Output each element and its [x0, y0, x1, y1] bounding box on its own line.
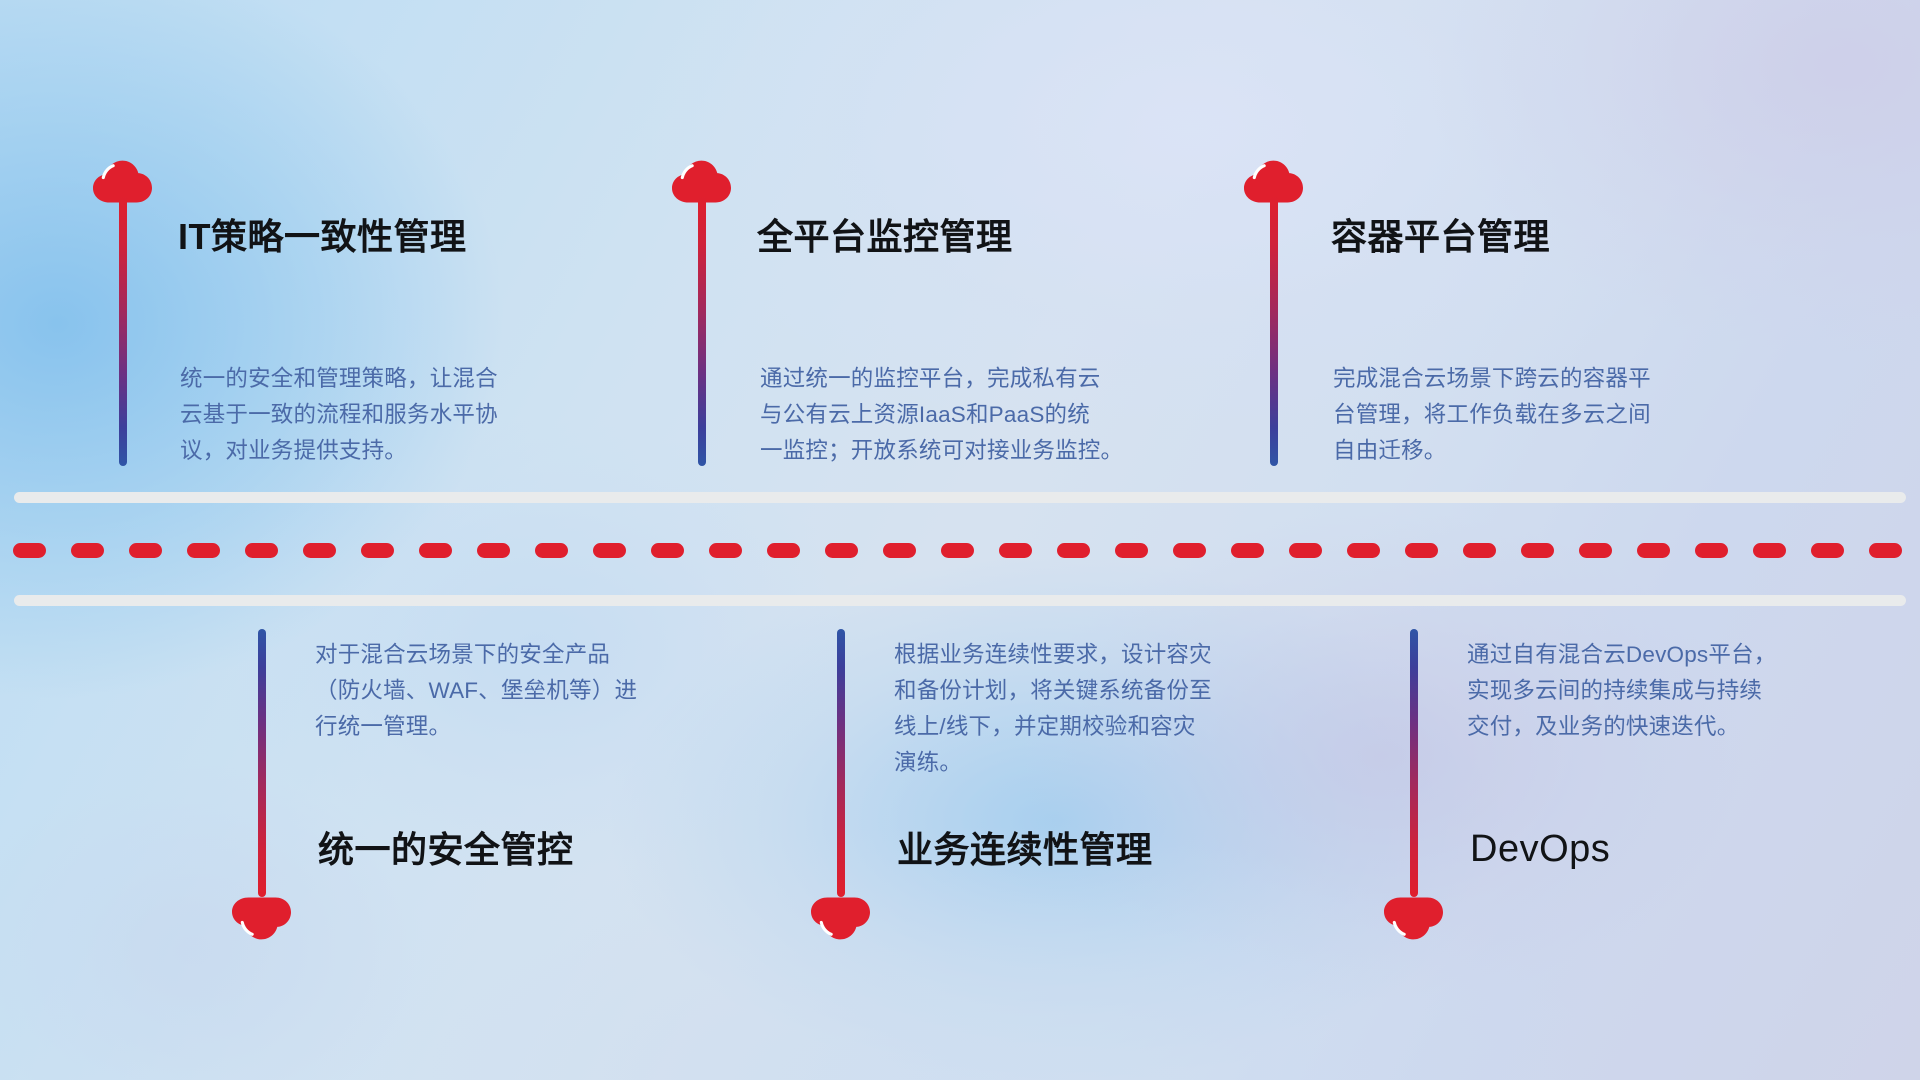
- cloud-icon: [810, 897, 872, 943]
- divider-dash: [361, 543, 394, 558]
- cloud-icon: [231, 897, 293, 943]
- divider-dash: [477, 543, 510, 558]
- divider-dash: [1637, 543, 1670, 558]
- divider-dash: [535, 543, 568, 558]
- connector-stem: [1410, 629, 1418, 897]
- card-title: 全平台监控管理: [757, 219, 1013, 255]
- cloud-icon: [1383, 897, 1445, 943]
- divider-dash: [71, 543, 104, 558]
- divider-dash: [651, 543, 684, 558]
- divider-dash: [1695, 543, 1728, 558]
- divider-dash: [999, 543, 1032, 558]
- description-line: 通过统一的监控平台，完成私有云: [760, 361, 1180, 397]
- card-title: IT策略一致性管理: [178, 219, 467, 255]
- divider-rail-bottom: [14, 595, 1906, 606]
- divider-dash: [245, 543, 278, 558]
- description-line: （防火墙、WAF、堡垒机等）进: [315, 673, 715, 709]
- card-title: 业务连续性管理: [897, 832, 1153, 868]
- card-description: 通过自有混合云DevOps平台， 实现多云间的持续集成与持续 交付，及业务的快速…: [1467, 637, 1877, 745]
- divider-dash: [941, 543, 974, 558]
- description-line: 实现多云间的持续集成与持续: [1467, 673, 1877, 709]
- description-line: 统一的安全和管理策略，让混合: [180, 361, 580, 397]
- card-description: 对于混合云场景下的安全产品 （防火墙、WAF、堡垒机等）进 行统一管理。: [315, 637, 715, 745]
- divider-dash: [419, 543, 452, 558]
- divider-dash: [593, 543, 626, 558]
- description-line: 演练。: [894, 745, 1314, 781]
- divider-dash: [825, 543, 858, 558]
- description-line: 与公有云上资源IaaS和PaaS的统: [760, 397, 1180, 433]
- divider-dash: [709, 543, 742, 558]
- card-description: 通过统一的监控平台，完成私有云 与公有云上资源IaaS和PaaS的统 一监控；开…: [760, 361, 1180, 469]
- divider-dash: [1869, 543, 1902, 558]
- divider-dash: [1173, 543, 1206, 558]
- description-line: 台管理，将工作负载在多云之间: [1333, 397, 1733, 433]
- divider-dash: [767, 543, 800, 558]
- description-line: 行统一管理。: [315, 709, 715, 745]
- card-title: DevOps: [1470, 830, 1610, 868]
- connector-stem: [119, 196, 127, 466]
- description-line: 和备份计划，将关键系统备份至: [894, 673, 1314, 709]
- divider-dash: [1405, 543, 1438, 558]
- card-title: 统一的安全管控: [318, 832, 574, 868]
- divider-dash: [1521, 543, 1554, 558]
- connector-stem: [698, 196, 706, 466]
- divider-dash: [1289, 543, 1322, 558]
- divider-dash: [1579, 543, 1612, 558]
- connector-stem: [1270, 196, 1278, 466]
- description-line: 交付，及业务的快速迭代。: [1467, 709, 1877, 745]
- divider-rail-top: [14, 492, 1906, 503]
- description-line: 根据业务连续性要求，设计容灾: [894, 637, 1314, 673]
- divider-dash: [1811, 543, 1844, 558]
- description-line: 对于混合云场景下的安全产品: [315, 637, 715, 673]
- divider-dash: [1057, 543, 1090, 558]
- divider-dash: [1347, 543, 1380, 558]
- divider-dash: [13, 543, 46, 558]
- description-line: 议，对业务提供支持。: [180, 433, 580, 469]
- description-line: 云基于一致的流程和服务水平协: [180, 397, 580, 433]
- description-line: 线上/线下，并定期校验和容灾: [894, 709, 1314, 745]
- connector-stem: [837, 629, 845, 897]
- description-line: 完成混合云场景下跨云的容器平: [1333, 361, 1733, 397]
- divider-dash: [1463, 543, 1496, 558]
- description-line: 通过自有混合云DevOps平台，: [1467, 637, 1877, 673]
- card-description: 完成混合云场景下跨云的容器平 台管理，将工作负载在多云之间 自由迁移。: [1333, 361, 1733, 469]
- card-description: 统一的安全和管理策略，让混合 云基于一致的流程和服务水平协 议，对业务提供支持。: [180, 361, 580, 469]
- divider-dash: [187, 543, 220, 558]
- card-description: 根据业务连续性要求，设计容灾 和备份计划，将关键系统备份至 线上/线下，并定期校…: [894, 637, 1314, 781]
- infographic-canvas: IT策略一致性管理 统一的安全和管理策略，让混合 云基于一致的流程和服务水平协 …: [0, 0, 1920, 1080]
- description-line: 自由迁移。: [1333, 433, 1733, 469]
- dashed-divider: [13, 543, 1909, 558]
- divider-dash: [1115, 543, 1148, 558]
- divider-dash: [1753, 543, 1786, 558]
- divider-dash: [129, 543, 162, 558]
- divider-dash: [883, 543, 916, 558]
- connector-stem: [258, 629, 266, 897]
- divider-dash: [1231, 543, 1264, 558]
- divider-dash: [303, 543, 336, 558]
- card-title: 容器平台管理: [1331, 219, 1550, 255]
- description-line: 一监控；开放系统可对接业务监控。: [760, 433, 1180, 469]
